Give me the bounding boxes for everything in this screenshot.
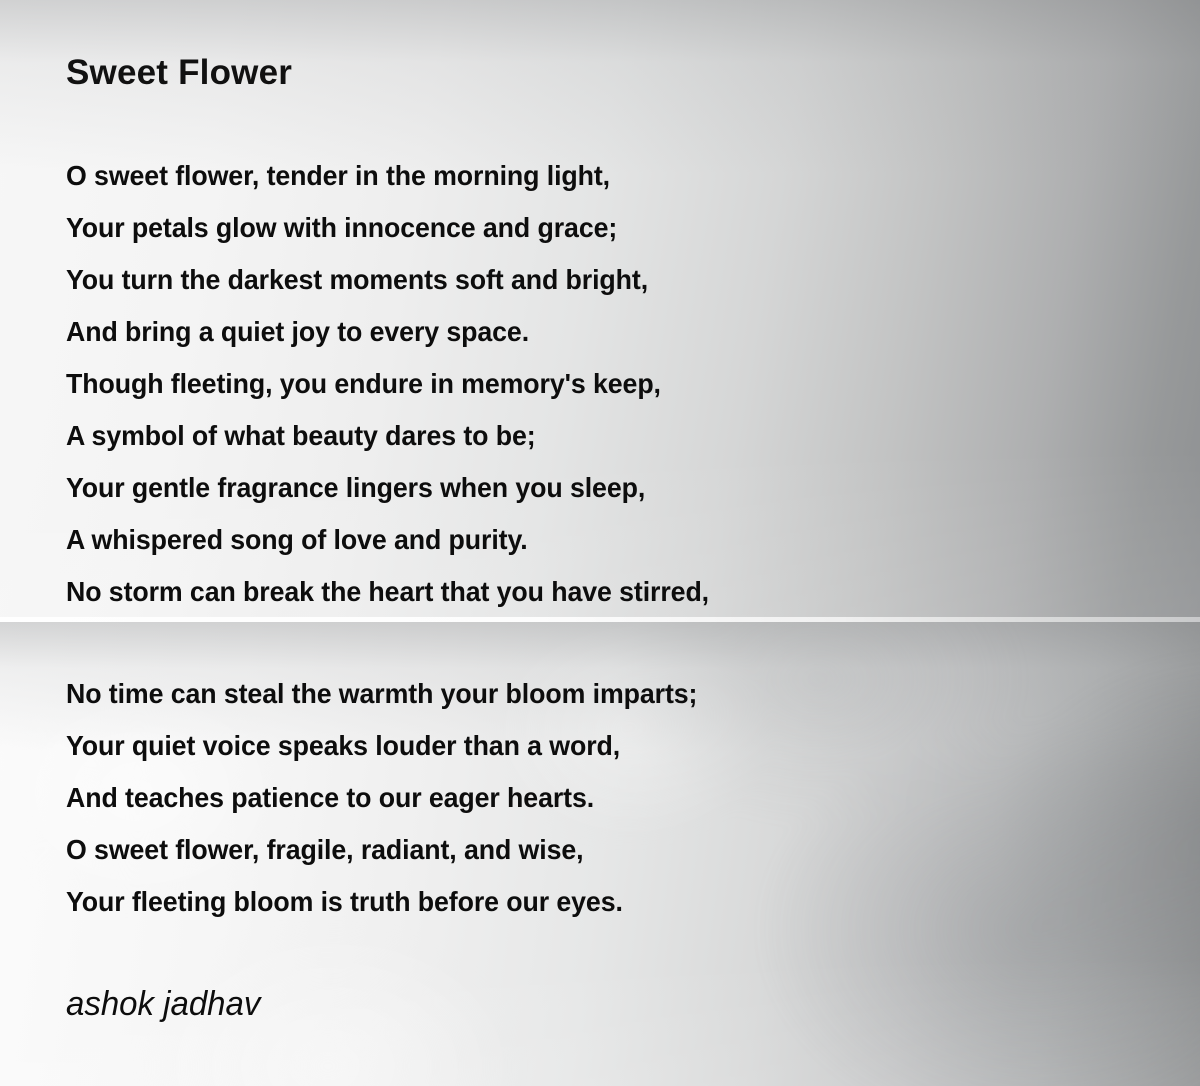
poem-line: A symbol of what beauty dares to be; <box>66 420 536 452</box>
poem-line: Your gentle fragrance lingers when you s… <box>66 472 645 504</box>
poem-line: O sweet flower, tender in the morning li… <box>66 160 610 192</box>
poem-line: Your fleeting bloom is truth before our … <box>66 886 623 918</box>
poem-line: Though fleeting, you endure in memory's … <box>66 368 661 400</box>
poem-line: And teaches patience to our eager hearts… <box>66 782 594 814</box>
poem-line: And bring a quiet joy to every space. <box>66 316 529 348</box>
poem-line: A whispered song of love and purity. <box>66 524 528 556</box>
poem-line: You turn the darkest moments soft and br… <box>66 264 648 296</box>
poem-line: Your quiet voice speaks louder than a wo… <box>66 730 620 762</box>
poem-title: Sweet Flower <box>66 53 292 93</box>
poem-line: No time can steal the warmth your bloom … <box>66 678 697 710</box>
poem-line: O sweet flower, fragile, radiant, and wi… <box>66 834 583 866</box>
poem-text-layer: Sweet Flower O sweet flower, tender in t… <box>0 0 1200 1086</box>
poem-author-signature: ashok jadhav <box>66 985 260 1024</box>
poem-line: Your petals glow with innocence and grac… <box>66 212 617 244</box>
poem-line: No storm can break the heart that you ha… <box>66 576 709 608</box>
poem-image-canvas: Sweet Flower O sweet flower, tender in t… <box>0 0 1200 1086</box>
